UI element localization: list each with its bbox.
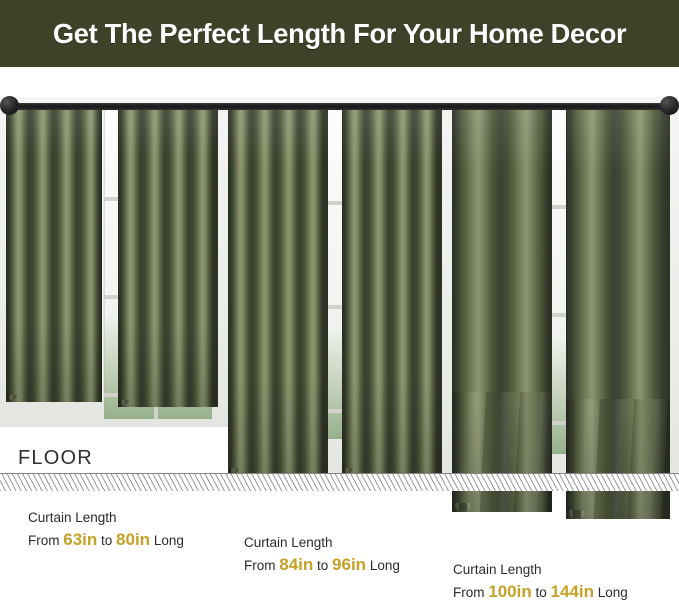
curtain-panel-3 (228, 107, 328, 475)
caption-1-long: Long (150, 533, 184, 548)
caption-3-long: Long (594, 585, 628, 600)
curtain-panel-2 (118, 107, 218, 407)
curtain-panel-6 (566, 107, 670, 519)
curtain-hem-5 (452, 503, 552, 512)
banner-title: Get The Perfect Length For Your Home Dec… (53, 18, 626, 50)
curtain-panel-5 (452, 107, 552, 512)
caption-2-max: 96in (332, 555, 366, 574)
caption-2-to: to (313, 558, 332, 573)
curtain-puddle-6 (566, 399, 670, 519)
curtain-puddle-5 (452, 392, 552, 512)
curtain-panel-1 (6, 107, 102, 402)
rod-finial-left-icon (0, 96, 19, 115)
caption-long-curtain: Curtain Length From 100in to 144in Long (453, 561, 628, 604)
caption-1-from: From (28, 533, 63, 548)
caption-3-to: to (532, 585, 551, 600)
curtain-hem-6 (566, 510, 670, 519)
caption-2-min: 84in (279, 555, 313, 574)
curtain-panel-4 (342, 107, 442, 475)
floor-hatch-band (0, 473, 679, 491)
caption-3-line2: From 100in to 144in Long (453, 581, 628, 604)
caption-1-line2: From 63in to 80in Long (28, 529, 184, 552)
caption-2-line2: From 84in to 96in Long (244, 554, 400, 577)
curtain-rod (8, 103, 671, 110)
caption-medium-curtain: Curtain Length From 84in to 96in Long (244, 534, 400, 577)
curtain-hem-2 (118, 400, 218, 407)
caption-3-from: From (453, 585, 488, 600)
caption-2-long: Long (366, 558, 400, 573)
caption-2-from: From (244, 558, 279, 573)
caption-1-to: to (97, 533, 116, 548)
caption-1-max: 80in (116, 530, 150, 549)
curtain-hem-1 (6, 395, 102, 402)
caption-short-curtain: Curtain Length From 63in to 80in Long (28, 509, 184, 552)
header-banner: Get The Perfect Length For Your Home Dec… (0, 0, 679, 67)
caption-3-min: 100in (488, 582, 531, 601)
caption-2-line1: Curtain Length (244, 534, 400, 552)
caption-3-line1: Curtain Length (453, 561, 628, 579)
caption-3-max: 144in (551, 582, 594, 601)
rod-finial-right-icon (660, 96, 679, 115)
caption-1-line1: Curtain Length (28, 509, 184, 527)
caption-1-min: 63in (63, 530, 97, 549)
floor-label: FLOOR (18, 447, 93, 470)
